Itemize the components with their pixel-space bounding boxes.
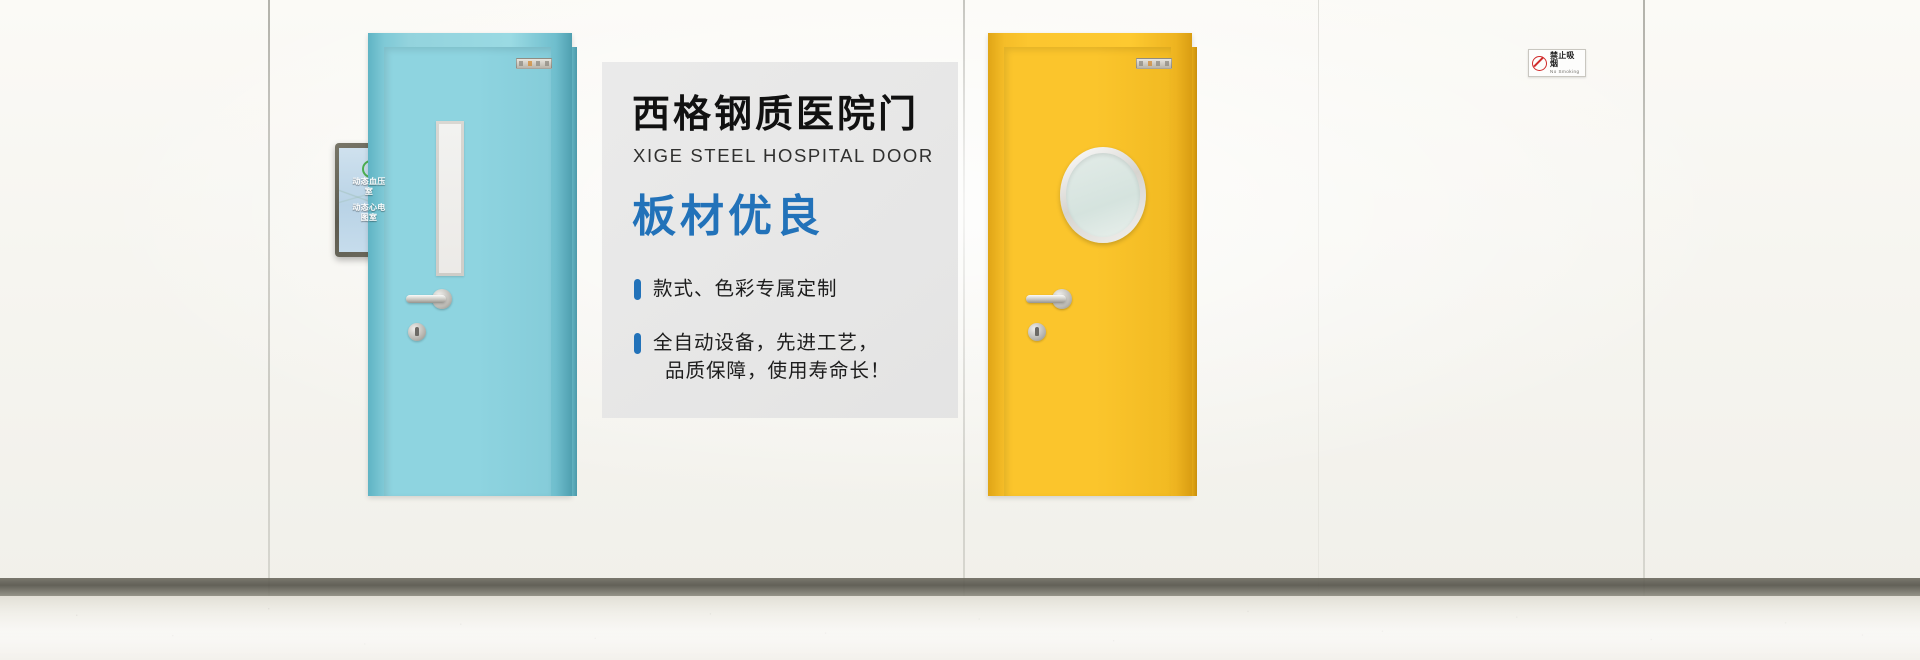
promo-highlight: 板材优良 <box>632 195 962 239</box>
list-item: 款式、色彩专属定制 <box>634 275 962 303</box>
display-line-2: 室 <box>365 187 373 196</box>
bullet-text-1: 款式、色彩专属定制 <box>653 275 838 303</box>
blue-door-handle[interactable] <box>406 293 452 305</box>
display-line-3: 动态心电 <box>352 203 385 212</box>
wall-seam-4 <box>1643 0 1645 596</box>
yellow-door-handle[interactable] <box>1026 293 1072 305</box>
corridor-floor <box>0 596 1920 660</box>
yellow-door-leaf-edge <box>1192 47 1197 496</box>
porthole-glass <box>1066 153 1140 237</box>
bullet-text-2-line2: 品质保障，使用寿命长！ <box>665 357 891 385</box>
closer-segment <box>1156 61 1160 66</box>
hospital-door-banner-scene: 动态血压 室 动态心电 图室 <box>0 0 1920 660</box>
wall-baseboard <box>0 578 1920 596</box>
promo-bullet-list: 款式、色彩专属定制 全自动设备，先进工艺， 品质保障，使用寿命长！ <box>634 275 962 386</box>
handle-lever[interactable] <box>406 295 446 303</box>
closer-segment <box>1165 61 1169 66</box>
blue-door[interactable] <box>368 33 572 496</box>
bullet-text-2: 全自动设备，先进工艺， 品质保障，使用寿命长！ <box>653 329 891 386</box>
bullet-marker-icon <box>634 333 641 354</box>
list-item: 全自动设备，先进工艺， 品质保障，使用寿命长！ <box>634 329 962 386</box>
floor-reflection <box>0 596 1920 660</box>
vision-panel-glass <box>439 124 461 273</box>
no-smoking-label-en: No Smoking <box>1550 70 1582 75</box>
display-room-label-1: 动态血压 室 <box>352 177 385 197</box>
wall-seam-3 <box>1318 0 1319 596</box>
vision-panel-glass-strip <box>436 121 464 276</box>
closer-segment <box>519 61 523 66</box>
page-title: 西格钢质医院门 <box>632 96 962 136</box>
blue-door-leaf[interactable] <box>384 47 551 496</box>
display-line-4: 图室 <box>361 213 378 222</box>
bullet-text-2-line1: 全自动设备，先进工艺， <box>653 332 879 354</box>
display-room-label-2: 动态心电 图室 <box>352 203 385 223</box>
bullet-marker-icon <box>634 279 641 300</box>
blue-door-lock[interactable] <box>408 323 426 341</box>
yellow-door-lock[interactable] <box>1028 323 1046 341</box>
display-line-1: 动态血压 <box>352 177 385 186</box>
closer-segment <box>536 61 540 66</box>
closer-segment <box>1139 61 1143 66</box>
yellow-door-closer <box>1136 58 1172 69</box>
porthole-window <box>1060 147 1146 243</box>
page-subtitle-en: XIGE STEEL HOSPITAL DOOR <box>633 145 962 167</box>
closer-indicator-icon <box>528 61 532 66</box>
wall-seam-1 <box>268 0 270 596</box>
blue-door-leaf-edge <box>572 47 577 496</box>
wall-seam-2 <box>963 0 965 596</box>
closer-segment <box>545 61 549 66</box>
handle-lever[interactable] <box>1026 295 1066 303</box>
no-smoking-text: 禁止吸烟 No Smoking <box>1550 52 1582 74</box>
yellow-door-leaf[interactable] <box>1004 47 1171 496</box>
no-smoking-sign: 禁止吸烟 No Smoking <box>1528 49 1586 77</box>
yellow-door[interactable] <box>988 33 1192 496</box>
no-smoking-icon <box>1532 56 1547 71</box>
closer-indicator-icon <box>1148 61 1152 66</box>
blue-door-closer <box>516 58 552 69</box>
no-smoking-label-cn: 禁止吸烟 <box>1550 52 1582 68</box>
promo-text-block: 西格钢质医院门 XIGE STEEL HOSPITAL DOOR 板材优良 款式… <box>632 96 962 412</box>
